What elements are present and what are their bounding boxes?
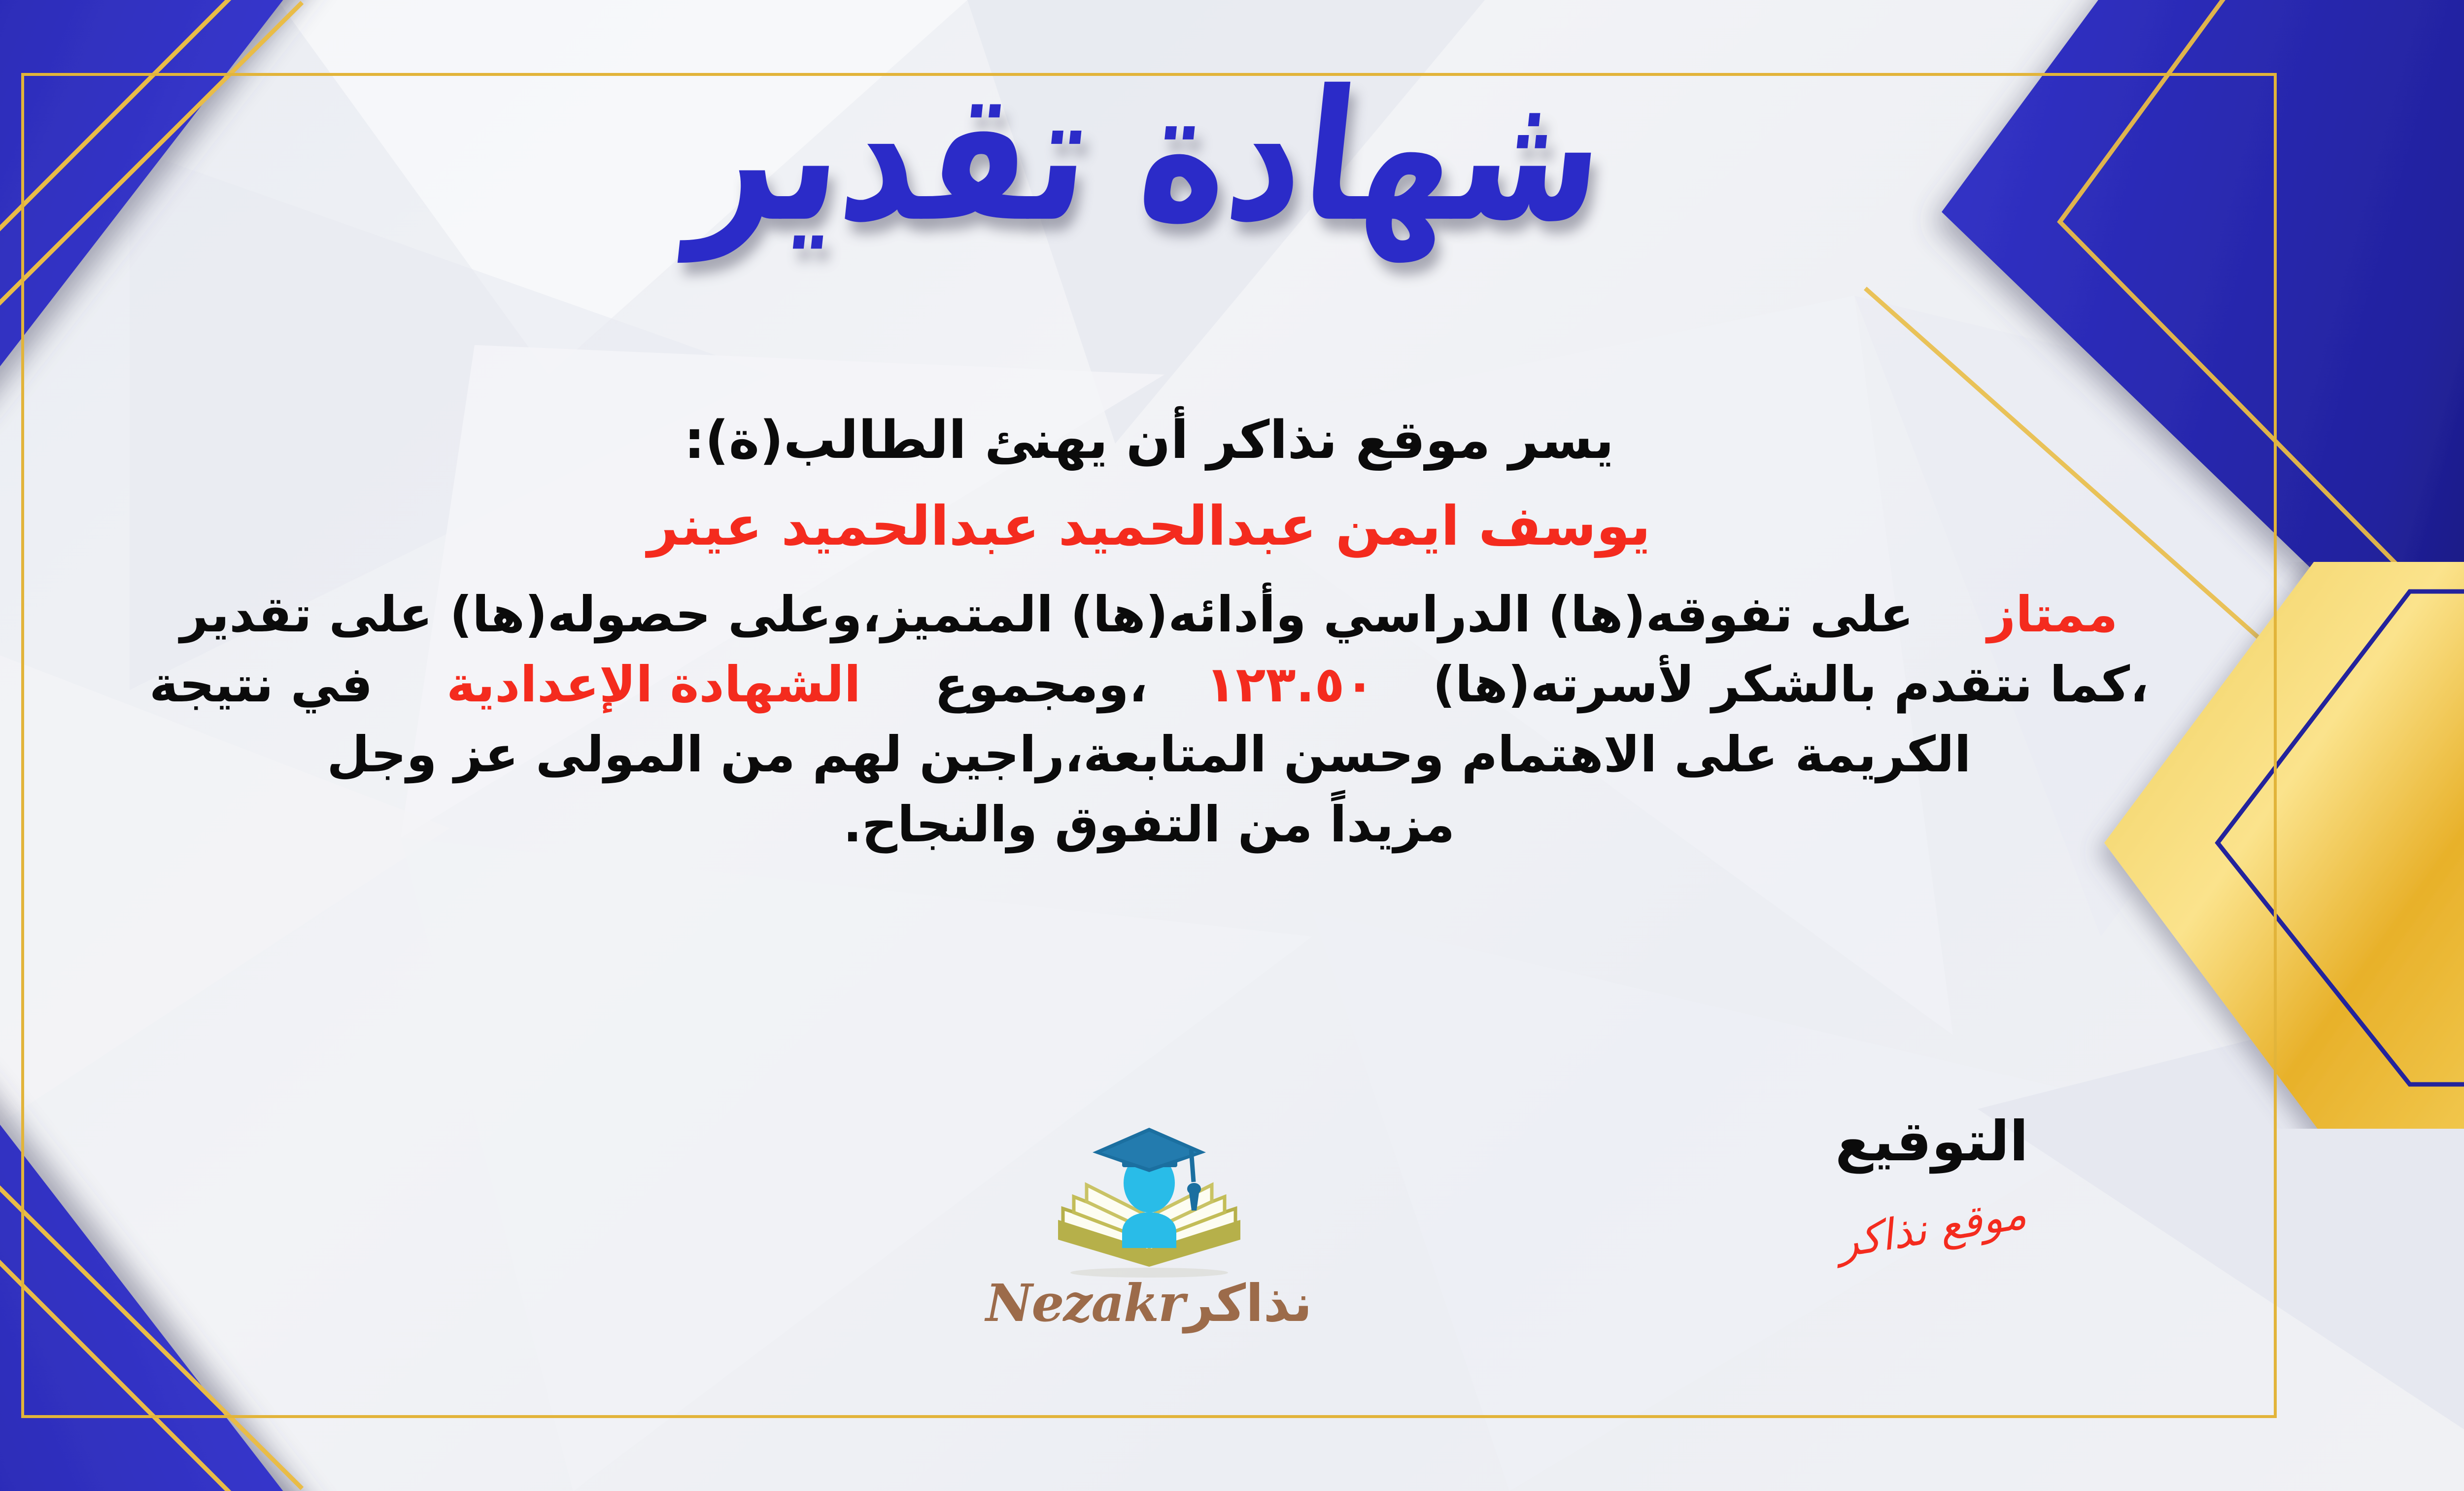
certificate-name: الشهادة الإعدادية <box>446 656 861 713</box>
logo-latin: Nezakr <box>986 1273 1184 1333</box>
certificate-canvas: شهادة تقدير يسر موقع نذاكر أن يهنئ الطال… <box>0 0 2464 1491</box>
paragraph-line-2-mid: ،ومجموع <box>935 656 1148 713</box>
certificate-footer: التوقيع موقع نذاكر <box>0 1114 2464 1420</box>
achievement-paragraph: ممتاز على تفوقه(ها) الدراسي وأدائه(ها) ا… <box>46 580 2252 860</box>
paragraph-line-1-text: على تفوقه(ها) الدراسي وأدائه(ها) المتميز… <box>180 586 1914 643</box>
graduate-on-open-book-icon <box>1043 1119 1255 1282</box>
certificate-body: يسر موقع نذاكر أن يهنئ الطالب(ة): يوسف ا… <box>46 414 2252 860</box>
total-score: ١٢٣.٥٠ <box>1205 656 1374 713</box>
paragraph-line-1: ممتاز على تفوقه(ها) الدراسي وأدائه(ها) ا… <box>46 580 2252 650</box>
paragraph-line-2: ،كما نتقدم بالشكر لأسرته(ها) ١٢٣.٥٠ ،ومج… <box>46 650 2252 720</box>
paragraph-line-3: الكريمة على الاهتمام وحسن المتابعة،راجين… <box>46 720 2252 790</box>
certificate-title: شهادة تقدير <box>685 62 1613 251</box>
title-area: شهادة تقدير <box>0 79 2464 234</box>
signature-mark: موقع نذاكر <box>1834 1189 2030 1267</box>
paragraph-line-2-head: في نتيجة <box>149 656 373 713</box>
brand-logo: نذاكرNezakr <box>962 1119 1336 1329</box>
paragraph-line-4: مزيداً من التفوق والنجاح. <box>46 790 2252 860</box>
paragraph-line-2-tail: ،كما نتقدم بالشكر لأسرته(ها) <box>1433 656 2149 713</box>
student-name: يوسف ايمن عبدالحميد عبدالحميد عينر <box>46 499 2252 553</box>
signature-block: التوقيع موقع نذاكر <box>1754 1114 2109 1253</box>
logo-arabic: نذاكر <box>1184 1273 1312 1333</box>
grade-value: ممتاز <box>1987 586 2118 643</box>
certificate-content: شهادة تقدير يسر موقع نذاكر أن يهنئ الطال… <box>0 0 2464 1491</box>
logo-wordmark: نذاكرNezakr <box>962 1278 1336 1329</box>
intro-line: يسر موقع نذاكر أن يهنئ الطالب(ة): <box>46 414 2252 466</box>
signature-label: التوقيع <box>1754 1114 2109 1169</box>
